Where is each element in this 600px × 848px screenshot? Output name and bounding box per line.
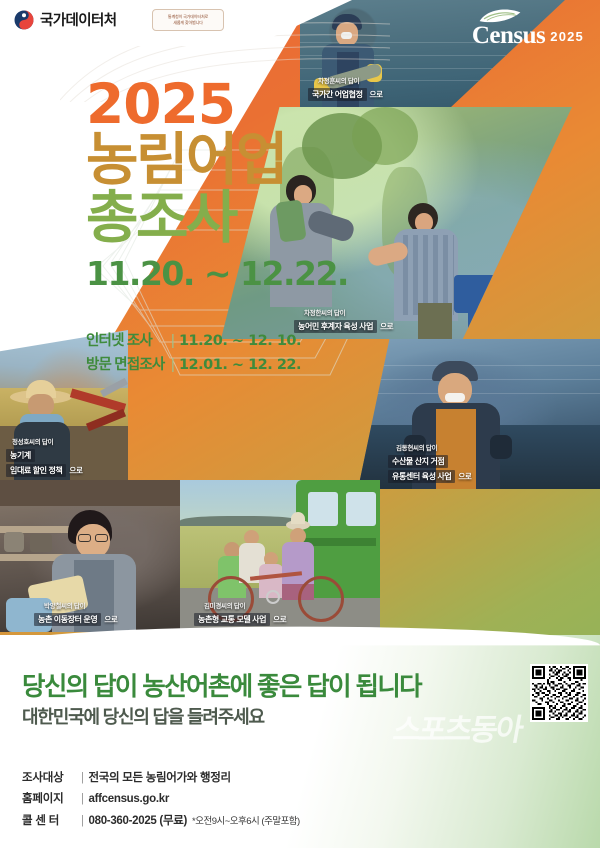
survey-label: 방문 면접조사 — [86, 354, 166, 378]
caption-highlight: 농촌 이동장터 운영 — [34, 613, 101, 626]
photo-caption-family: 김미경씨의 답이 농촌형 교통 모델 사업 으로 — [194, 603, 286, 626]
survey-separator: | — [171, 354, 174, 378]
photo-caption-greenhouse: 차정한씨의 답이 농어민 후계자 육성 사업 으로 — [294, 310, 393, 333]
qr-code[interactable] — [530, 664, 588, 722]
poster-title: 2025 농림어업 총조사 11.20. ~ 12.22. — [86, 78, 348, 292]
caption-highlight: 농촌형 교통 모델 사업 — [194, 613, 270, 626]
photo-boatman: 김동현씨의 답이 수산물 산지 거점 유통센터 육성 사업 으로 — [358, 339, 600, 489]
info-separator: | — [81, 811, 84, 832]
caption-suffix: 으로 — [104, 615, 117, 624]
info-separator: | — [81, 768, 84, 789]
caption-highlight: 농어민 후계자 육성 사업 — [294, 320, 377, 333]
survey-label: 인터넷 조사 — [86, 330, 166, 354]
caption-person: 박양철씨의 답이 — [44, 603, 118, 611]
slogan-sub: 대한민국에 당신의 답을 들려주세요 — [22, 703, 264, 729]
caption-suffix: 으로 — [69, 466, 82, 475]
badge-line-2: 새롭게 찾아뵙니다 — [173, 20, 202, 26]
survey-period: 12.01. ~ 12. 22. — [179, 354, 301, 378]
slogan-main: 당신의 답이 농산어촌에 좋은 답이 됩니다 — [22, 666, 421, 703]
photo-caption-tractor: 정성호씨의 답이 농기계 임대료 할인 정책 으로 — [6, 439, 83, 477]
info-row-callcenter[interactable]: 콜 센 터 | 080-360-2025 (무료) *오전9시~오후6시 (주말… — [22, 811, 300, 832]
survey-method-row: 방문 면접조사 | 12.01. ~ 12. 22. — [86, 354, 301, 378]
photo-family-bus: 김미경씨의 답이 농촌형 교통 모델 사업 으로 — [180, 480, 380, 632]
callcenter-hours: *오전9시~오후6시 (주말포함) — [192, 813, 300, 831]
caption-person: 정성호씨의 답이 — [12, 439, 83, 447]
info-list: 조사대상 | 전국의 모든 농림어가와 행정리 홈페이지 | affcensus… — [22, 768, 300, 832]
survey-period: 11.20. ~ 12. 10. — [179, 330, 301, 354]
info-label: 홈페이지 — [22, 789, 76, 810]
caption-highlight-1: 수산물 산지 거점 — [388, 455, 448, 468]
phone-number[interactable]: 080-360-2025 (무료) — [89, 811, 188, 832]
photo-caption-market: 박양철씨의 답이 농촌 이동장터 운영 으로 — [34, 603, 118, 626]
census-logo: Census 2025 — [472, 8, 584, 48]
info-row-target: 조사대상 | 전국의 모든 농림어가와 행정리 — [22, 768, 300, 789]
census-poster: 차정훈씨의 답이 국가간 어업협정 으로 차정한씨의 답이 — [0, 0, 600, 848]
caption-person: 김미경씨의 답이 — [204, 603, 286, 611]
census-year: 2025 — [550, 29, 584, 48]
title-line-3: 총조사 — [86, 189, 348, 247]
government-logo[interactable]: 국가데이터처 — [14, 9, 116, 30]
info-label: 조사대상 — [22, 768, 76, 789]
watermark: 스포츠동아 — [390, 705, 526, 749]
caption-suffix: 으로 — [458, 472, 471, 481]
info-separator: | — [81, 789, 84, 810]
photo-caption-boatman: 김동현씨의 답이 수산물 산지 거점 유통센터 육성 사업 으로 — [388, 445, 472, 483]
title-year: 2025 — [86, 78, 348, 130]
website-url[interactable]: affcensus.go.kr — [89, 789, 170, 810]
survey-methods: 인터넷 조사 | 11.20. ~ 12. 10. 방문 면접조사 | 12.0… — [86, 330, 301, 378]
photo-market: 박양철씨의 답이 농촌 이동장터 운영 으로 — [0, 480, 180, 632]
title-date-range: 11.20. ~ 12.22. — [86, 256, 348, 292]
footer-section: 당신의 답이 농산어촌에 좋은 답이 됩니다 대한민국에 당신의 답을 들려주세… — [0, 635, 600, 848]
info-value: 전국의 모든 농림어가와 행정리 — [89, 768, 231, 789]
title-line-2: 농림어업 — [86, 131, 348, 189]
info-row-website[interactable]: 홈페이지 | affcensus.go.kr — [22, 789, 300, 810]
caption-suffix: 으로 — [380, 322, 393, 331]
census-wordmark: Census — [472, 24, 545, 48]
caption-suffix: 으로 — [273, 615, 286, 624]
survey-method-row: 인터넷 조사 | 11.20. ~ 12. 10. — [86, 330, 301, 354]
survey-separator: | — [171, 330, 174, 354]
caption-highlight-2: 임대료 할인 정책 — [6, 464, 66, 477]
taegeuk-icon — [14, 10, 34, 30]
agency-rename-badge: 통계청이 국가데이터처로 새롭게 찾아뵙니다 — [152, 9, 224, 31]
caption-highlight-1: 농기계 — [6, 449, 35, 462]
info-label: 콜 센 터 — [22, 811, 76, 832]
agency-name: 국가데이터처 — [40, 9, 116, 30]
caption-person: 차정한씨의 답이 — [304, 310, 393, 318]
caption-person: 김동현씨의 답이 — [396, 445, 472, 453]
caption-highlight-2: 유통센터 육성 사업 — [388, 470, 455, 483]
